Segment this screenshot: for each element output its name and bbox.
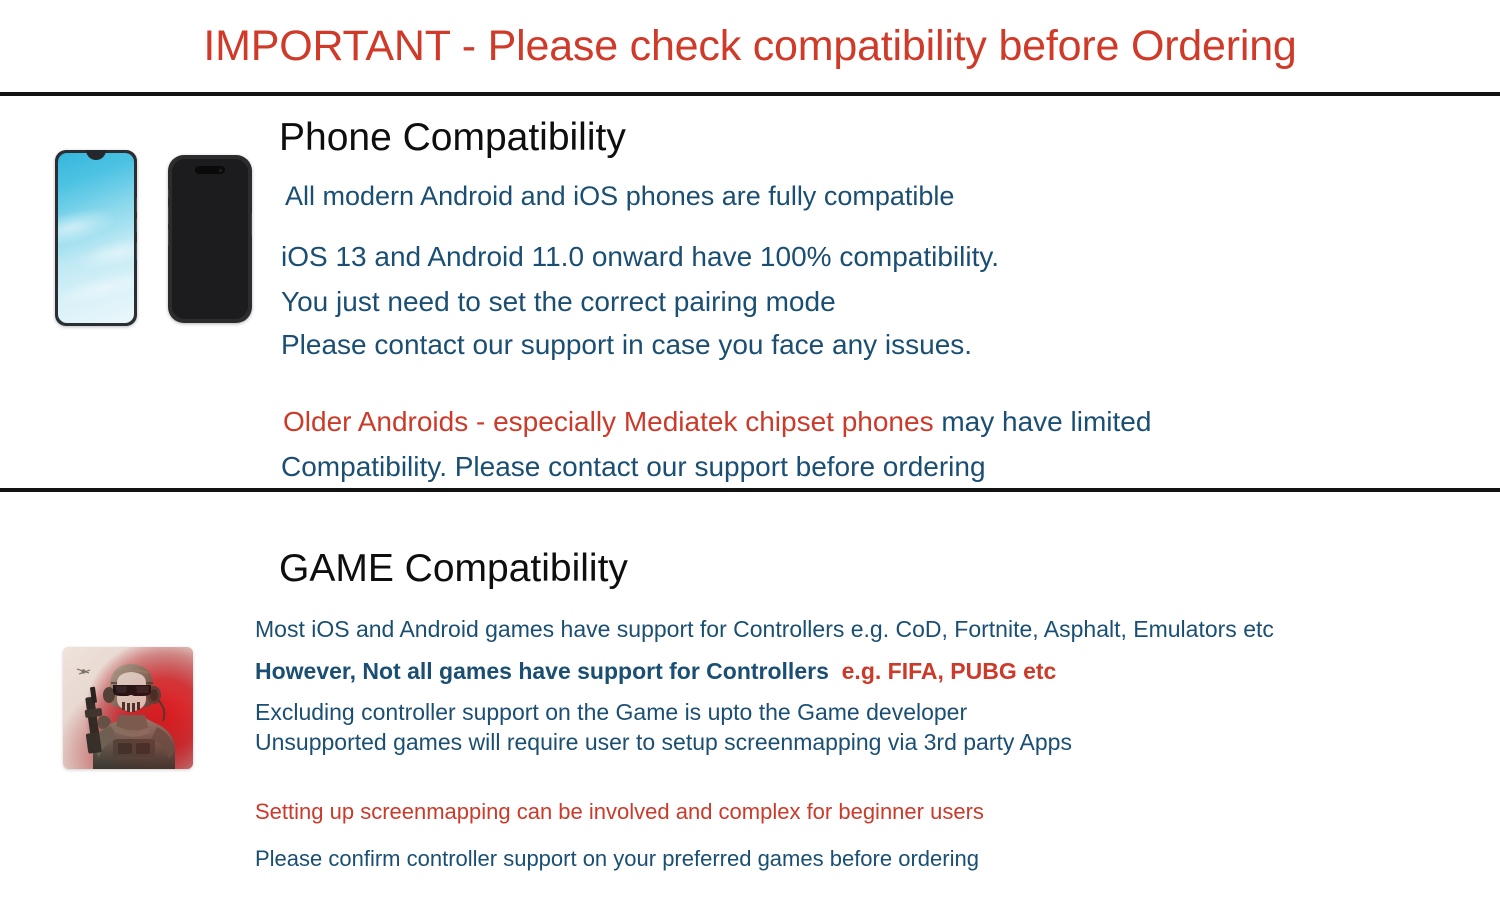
game-line-screenmapping-complex-warning: Setting up screenmapping can be involved… <box>255 801 984 823</box>
android-power-button <box>136 242 137 260</box>
phone-compatibility-heading: Phone Compatibility <box>279 118 626 157</box>
iphone-mute-switch <box>168 189 169 198</box>
not-all-games-text: However, Not all games have support for … <box>255 658 829 684</box>
iphone-volume-down-button <box>168 229 169 246</box>
phone-line-modern-phones: All modern Android and iOS phones are fu… <box>285 183 954 210</box>
older-androids-suffix-text: may have limited <box>934 406 1152 437</box>
divider-middle <box>0 488 1500 492</box>
android-volume-up-button <box>136 198 137 212</box>
phone-line-pairing-mode: You just need to set the correct pairing… <box>281 288 836 316</box>
iphone-volume-up-button <box>168 207 169 224</box>
android-screen <box>58 153 134 323</box>
phone-line-os-versions: iOS 13 and Android 11.0 onward have 100%… <box>281 243 999 271</box>
game-line-most-games-supported: Most iOS and Android games have support … <box>255 618 1274 641</box>
unsupported-games-examples: e.g. FIFA, PUBG etc <box>842 658 1057 684</box>
phone-line-older-androids: Older Androids - especially Mediatek chi… <box>283 408 1151 436</box>
game-line-not-all-games: However, Not all games have support for … <box>255 660 1056 683</box>
dynamic-island-icon <box>195 166 225 174</box>
game-compatibility-heading: GAME Compatibility <box>279 549 628 588</box>
important-banner: IMPORTANT - Please check compatibility b… <box>0 0 1500 92</box>
compatibility-infographic: IMPORTANT - Please check compatibility b… <box>0 0 1500 900</box>
banner-title: IMPORTANT - Please check compatibility b… <box>203 25 1296 68</box>
game-line-confirm-before-ordering: Please confirm controller support on you… <box>255 848 979 870</box>
android-volume-down-button <box>136 218 137 232</box>
iphone-icon <box>168 155 252 323</box>
iphone-screen <box>172 159 248 319</box>
iphone-power-button <box>251 213 252 237</box>
older-androids-warning-text: Older Androids - especially Mediatek chi… <box>283 406 934 437</box>
phone-images <box>50 145 260 330</box>
game-line-screenmapping-required: Unsupported games will require user to s… <box>255 731 1072 754</box>
game-line-developer-choice: Excluding controller support on the Game… <box>255 701 967 724</box>
call-of-duty-game-icon <box>63 647 193 769</box>
phone-line-contact-support: Please contact our support in case you f… <box>281 331 972 359</box>
divider-top <box>0 92 1500 96</box>
phone-line-compatibility-contact: Compatibility. Please contact our suppor… <box>281 453 986 481</box>
android-phone-icon <box>55 150 137 326</box>
